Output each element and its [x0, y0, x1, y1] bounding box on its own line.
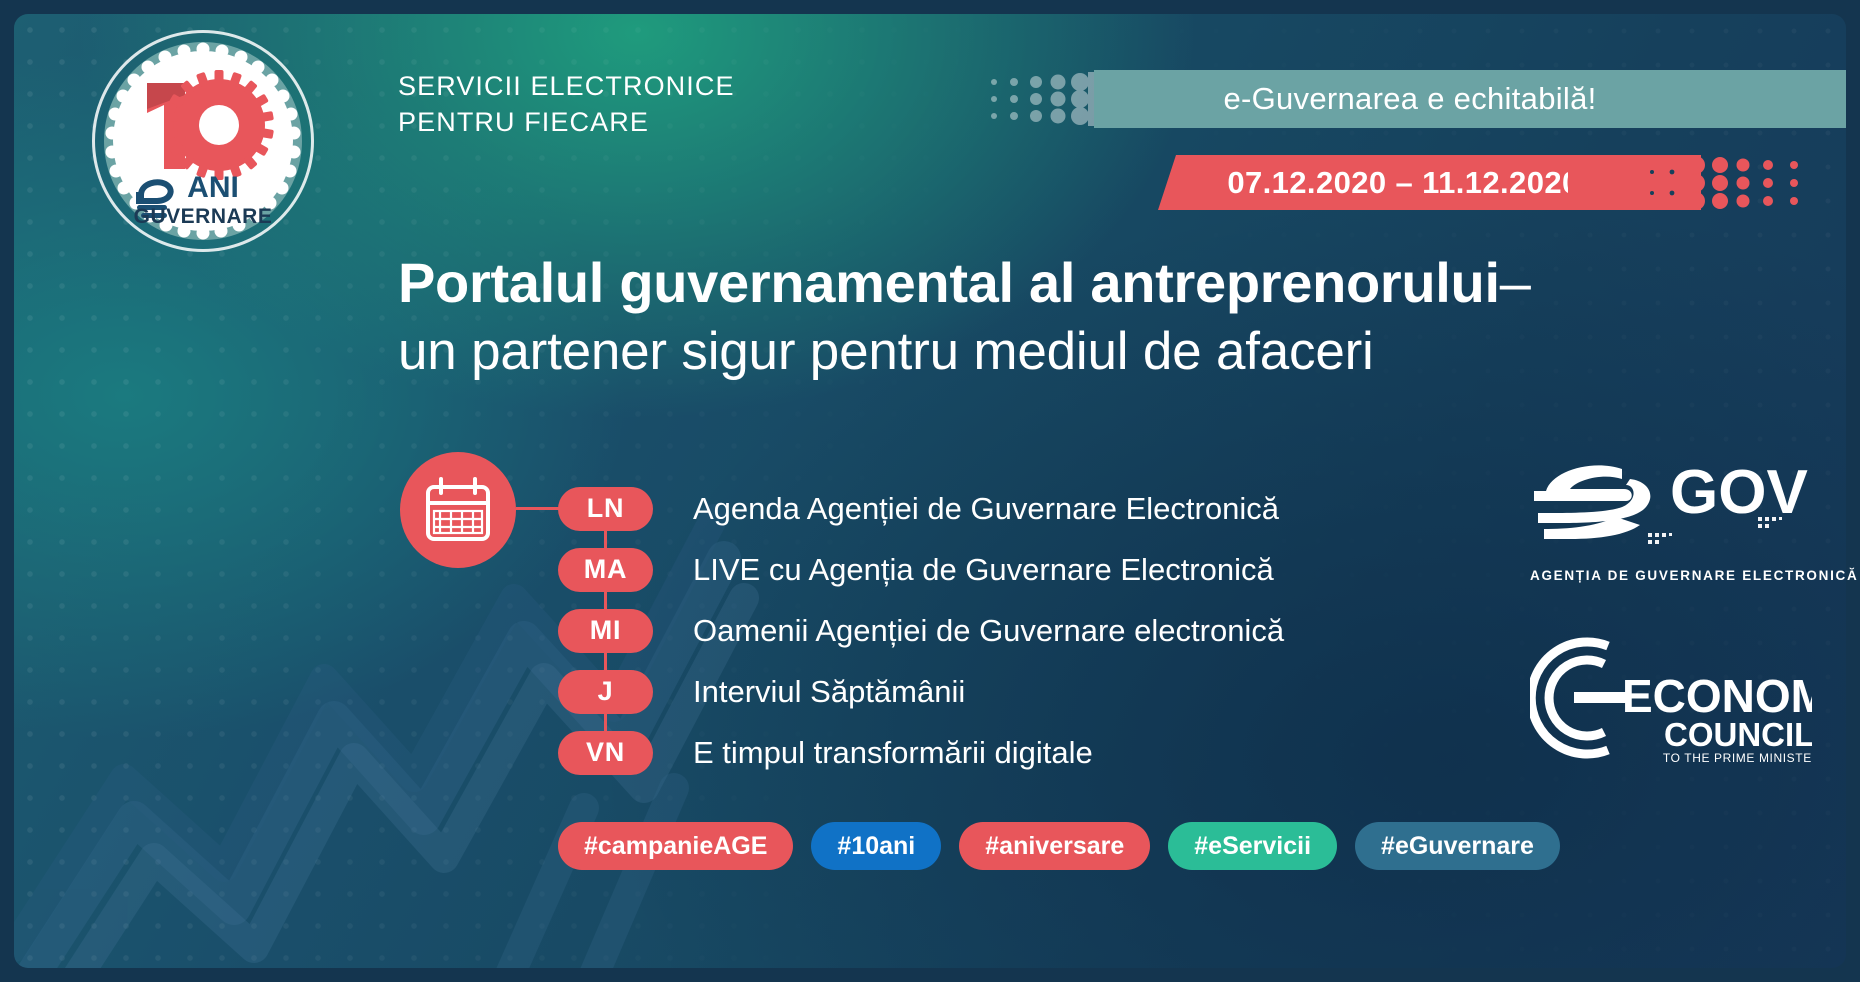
hashtag-aniversare[interactable]: #aniversare	[959, 822, 1150, 870]
anniversary-emblem: ANI GUVERNARE	[92, 30, 314, 252]
e-gov-icon: GOV	[1530, 455, 1812, 559]
headline: Portalul guvernamental al antreprenorulu…	[398, 252, 1688, 382]
schedule-row: VN E timpul transformării digitale	[558, 722, 1558, 783]
logo-economic-council: ECONOMIC COUNCIL TO THE PRIME MINISTER	[1530, 628, 1812, 773]
headline-line-1-text: Portalul guvernamental al antreprenorulu…	[398, 251, 1500, 314]
economic-text: ECONOMIC	[1622, 670, 1812, 722]
hashtag-eguvernare[interactable]: #eGuvernare	[1355, 822, 1560, 870]
kicker-text: SERVICII ELECTRONICE PENTRU FIECARE	[398, 68, 735, 140]
schedule-title: LIVE cu Agenția de Guvernare Electronică	[693, 552, 1274, 588]
council-text: COUNCIL	[1664, 716, 1812, 753]
slogan-bar: e-Guvernarea e echitabilă!	[1094, 70, 1846, 128]
schedule-row: J Interviul Săptămânii	[558, 661, 1558, 722]
schedule-row: MI Oamenii Agenției de Guvernare electro…	[558, 600, 1558, 661]
headline-dash: –	[1500, 251, 1531, 314]
hashtag-row: #campanieAGE #10ani #aniversare #eServic…	[558, 822, 1560, 870]
day-badge-ln: LN	[558, 487, 653, 531]
schedule-row: MA LIVE cu Agenția de Guvernare Electron…	[558, 539, 1558, 600]
day-badge-j: J	[558, 670, 653, 714]
hashtag-eservicii[interactable]: #eServicii	[1168, 822, 1337, 870]
date-dot-fade	[1568, 155, 1828, 210]
headline-line-2: un partener sigur pentru mediul de aface…	[398, 321, 1688, 382]
hashtag-campanieage[interactable]: #campanieAGE	[558, 822, 793, 870]
headline-line-1: Portalul guvernamental al antreprenorulu…	[398, 252, 1688, 315]
schedule-title: Agenda Agenției de Guvernare Electronică	[693, 491, 1279, 527]
promo-banner: ANI GUVERNARE SERVICII ELECTRONICE PENTR…	[0, 0, 1860, 982]
day-badge-mi: MI	[558, 609, 653, 653]
calendar-icon-circle	[400, 452, 516, 568]
date-banner: 07.12.2020 – 11.12.2020	[1130, 155, 1846, 210]
date-range-text: 07.12.2020 – 11.12.2020	[1227, 165, 1579, 201]
emblem-guvernare-text: GUVERNARE	[134, 205, 273, 228]
day-badge-vn: VN	[558, 731, 653, 775]
gov-caption: AGENȚIA DE GUVERNARE ELECTRONICĂ	[1530, 568, 1812, 583]
gov-wordmark: GOV	[1670, 458, 1808, 527]
hashtag-10ani[interactable]: #10ani	[811, 822, 941, 870]
schedule-list: LN Agenda Agenției de Guvernare Electron…	[558, 478, 1558, 783]
emblem-ani-text: ANI	[187, 171, 239, 204]
calendar-connector-line	[516, 507, 560, 510]
schedule-title: Interviul Săptămânii	[693, 674, 965, 710]
day-badge-ma: MA	[558, 548, 653, 592]
slogan-text: e-Guvernarea e echitabilă!	[1223, 81, 1596, 117]
calendar-icon	[424, 477, 492, 543]
schedule-title: E timpul transformării digitale	[693, 735, 1093, 771]
schedule-row: LN Agenda Agenției de Guvernare Electron…	[558, 478, 1558, 539]
emblem-badge: ANI GUVERNARE	[101, 39, 305, 243]
date-banner-fill: 07.12.2020 – 11.12.2020	[1158, 155, 1581, 210]
logo-egov: GOV AGENȚIA DE GUVERNARE ELECTRONICĂ	[1530, 455, 1812, 583]
prime-minister-text: TO THE PRIME MINISTER	[1663, 751, 1812, 765]
e-circle-icon: ECONOMIC COUNCIL TO THE PRIME MINISTER	[1530, 628, 1812, 768]
schedule-title: Oamenii Agenției de Guvernare electronic…	[693, 613, 1284, 649]
